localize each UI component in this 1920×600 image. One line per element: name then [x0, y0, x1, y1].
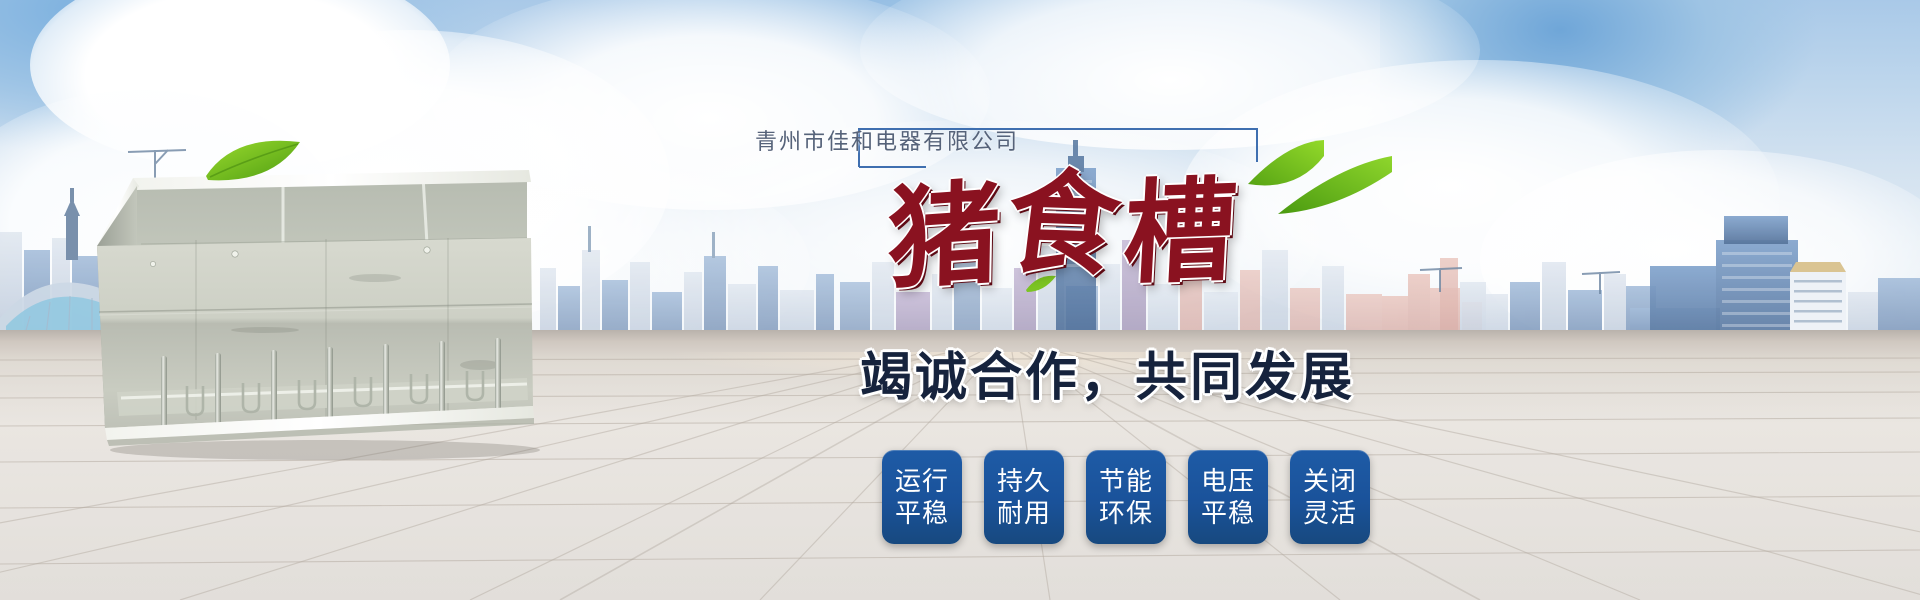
- feature-chip-2-line1: 持久: [997, 465, 1051, 497]
- title-char: 猪: [887, 178, 1007, 298]
- company-name: 青州市佳和电器有限公司: [755, 124, 1019, 156]
- feature-chip-1-line2: 平稳: [895, 497, 949, 529]
- feature-chip-3[interactable]: 节能 环保: [1086, 450, 1166, 544]
- feature-chip-5-line2: 灵活: [1303, 497, 1357, 529]
- feature-chip-list: 运行 平稳 持久 耐用 节能 环保 电压 平稳 关闭 灵活: [882, 450, 1370, 544]
- feature-chip-1[interactable]: 运行 平稳: [882, 450, 962, 544]
- feature-chip-2[interactable]: 持久 耐用: [984, 450, 1064, 544]
- leaf-icon: [1268, 152, 1398, 222]
- feature-chip-5[interactable]: 关闭 灵活: [1290, 450, 1370, 544]
- feature-chip-2-line2: 耐用: [997, 497, 1051, 529]
- page-title: 猪食槽: [883, 176, 1247, 288]
- product-image-pig-feeder-trough: [75, 160, 575, 460]
- feature-chip-4-line2: 平稳: [1201, 497, 1255, 529]
- feature-chip-3-line1: 节能: [1099, 465, 1153, 497]
- feature-chip-4-line1: 电压: [1201, 465, 1255, 497]
- promo-banner: 青州市佳和电器有限公司 猪食槽 竭诚合作，共同发展 运行 平稳 持久 耐用 节能…: [0, 0, 1920, 600]
- feature-chip-4[interactable]: 电压 平稳: [1188, 450, 1268, 544]
- feature-chip-3-line2: 环保: [1099, 497, 1153, 529]
- title-char: 槽: [1121, 176, 1245, 292]
- title-char: 食: [1000, 168, 1131, 284]
- subtitle-slogan: 竭诚合作，共同发展: [860, 348, 1355, 408]
- feature-chip-1-line1: 运行: [895, 465, 949, 497]
- feature-chip-5-line1: 关闭: [1303, 465, 1357, 497]
- leaf-icon: [200, 132, 310, 192]
